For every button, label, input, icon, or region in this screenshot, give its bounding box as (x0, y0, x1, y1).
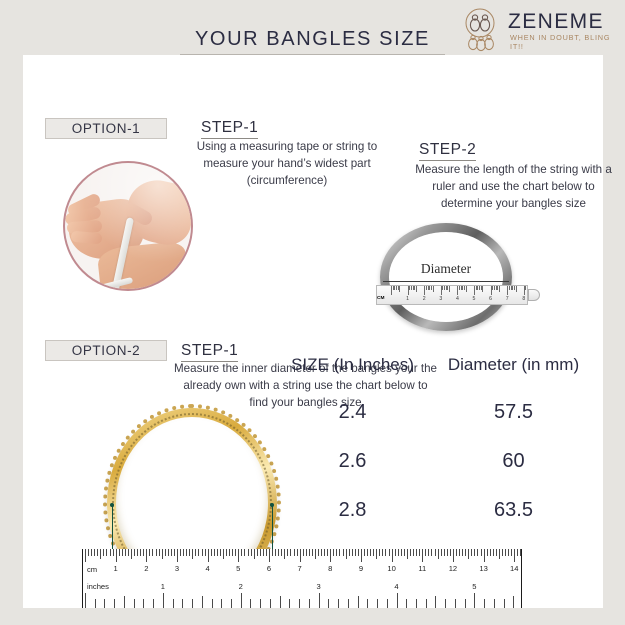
cell-size: 2.8 (272, 499, 433, 522)
ruler-inch-minor-tick (280, 596, 281, 608)
ruler-cm-tick (300, 549, 301, 562)
ruler-label: 3 (439, 296, 442, 302)
ruler-label: 6 (489, 296, 492, 302)
ruler-cm-minor-tick (217, 549, 218, 556)
ruler-cm-minor-tick (315, 549, 316, 559)
ruler-cm-minor-tick (490, 549, 491, 556)
ruler-cm-minor-tick (205, 549, 206, 556)
ruler-cm-tick (116, 549, 117, 562)
ruler-cm-label: 7 (298, 564, 302, 573)
ruler-cm-minor-tick (134, 549, 135, 556)
ruler-cm-minor-tick (94, 549, 95, 556)
ruler-cm-tick (238, 549, 239, 562)
ruler-inch-tick (319, 593, 320, 608)
content-panel: OPTION-1 STEP-1 Using a measuring tape o… (23, 55, 603, 608)
ruler-cm-tick (146, 549, 147, 562)
ruler-cm-minor-tick (174, 549, 175, 556)
ruler-cm-minor-tick (192, 549, 193, 559)
ruler-inch-minor-tick (95, 599, 96, 608)
ruler-inch-minor-tick (455, 599, 456, 608)
ruler-cm-minor-tick (346, 549, 347, 559)
ruler-cm-minor-tick (88, 549, 89, 556)
ruler-inch-minor-tick (299, 599, 300, 608)
ruler-cm-minor-tick (211, 549, 212, 556)
ruler-cm-minor-tick (493, 549, 494, 556)
ruler-inch-minor-tick (134, 599, 135, 608)
ruler-cm-minor-tick (499, 549, 500, 559)
ruler-cm-minor-tick (128, 549, 129, 556)
ruler-inch-minor-tick (143, 599, 144, 608)
ruler-cm-tick (422, 549, 423, 562)
brand-name: ZENEME (508, 10, 604, 34)
table-row: 2.6 60 (272, 450, 594, 473)
ruler-cm-minor-tick (349, 549, 350, 556)
ruler-cm-tick (484, 549, 485, 562)
option1-step2-heading: STEP-2 (419, 141, 476, 161)
ruler-cm-tick (208, 549, 209, 562)
ruler-cm-minor-tick (477, 549, 478, 556)
ruler-cm-minor-tick (462, 549, 463, 556)
option1-step1-heading: STEP-1 (201, 119, 258, 139)
ruler-cm-tick (392, 549, 393, 562)
ruler-label: 2 (423, 296, 426, 302)
ruler-inch-tick (85, 593, 86, 608)
ruler-cm-minor-tick (281, 549, 282, 556)
ruler-cm-minor-tick (214, 549, 215, 556)
ruler-cm-minor-tick (183, 549, 184, 556)
ruler-cm-tick (177, 549, 178, 562)
ruler-cm-tick (330, 549, 331, 562)
earrings-logo-icon (458, 6, 504, 52)
ruler-cm-minor-tick (162, 549, 163, 559)
ruler-cm-label: 6 (267, 564, 271, 573)
ruler-cm-minor-tick (254, 549, 255, 559)
diameter-ruler-icon: CM 12345678 (376, 285, 528, 305)
ruler-inch-minor-tick (406, 599, 407, 608)
table-row: 2.8 63.5 (272, 499, 594, 522)
ruler-inch-minor-tick (309, 599, 310, 608)
ruler-cm-minor-tick (364, 549, 365, 556)
ruler-cm-minor-tick (459, 549, 460, 556)
ruler-cm-label: 4 (206, 564, 210, 573)
size-chart: SIZE (In Inches) Diameter (in mm) 2.4 57… (272, 355, 594, 548)
ruler-inch-minor-tick (504, 599, 505, 608)
ruler-cm-minor-tick (97, 549, 98, 556)
ruler-cm-minor-tick (263, 549, 264, 556)
ruler-inch-minor-tick (328, 599, 329, 608)
ruler-cm-minor-tick (91, 549, 92, 556)
ruler-cm-minor-tick (425, 549, 426, 556)
cell-size: 2.6 (272, 450, 433, 473)
diameter-label: Diameter (380, 261, 512, 277)
ruler-inch-minor-tick (192, 599, 193, 608)
ruler-cm-minor-tick (251, 549, 252, 556)
ruler-cm-minor-tick (401, 549, 402, 556)
option-2-chip: OPTION-2 (45, 340, 167, 361)
ruler-cm-minor-tick (110, 549, 111, 556)
ruler-label: 1 (406, 296, 409, 302)
ruler-cm-minor-tick (389, 549, 390, 556)
ruler-cm-minor-tick (168, 549, 169, 556)
cell-diameter: 63.5 (433, 499, 594, 522)
ruler-cm-minor-tick (171, 549, 172, 556)
ruler-cm-minor-tick (471, 549, 472, 556)
ruler-cm-minor-tick (327, 549, 328, 556)
ruler-inch-minor-tick (124, 596, 125, 608)
ruler-cm-minor-tick (419, 549, 420, 556)
ruler-cm-label: 11 (418, 564, 426, 573)
ruler-cm-minor-tick (456, 549, 457, 556)
ruler-inch-tick (163, 593, 164, 608)
ruler-cm-minor-tick (404, 549, 405, 556)
ruler-cm-minor-tick (198, 549, 199, 556)
ruler-cm-minor-tick (318, 549, 319, 556)
ruler-cm-minor-tick (106, 549, 107, 556)
silver-bangle-inner-edge (389, 232, 503, 322)
ruler-cm-label: 14 (510, 564, 518, 573)
ruler-cm-minor-tick (373, 549, 374, 556)
ruler-cm-minor-tick (321, 549, 322, 556)
cell-size: 2.4 (272, 401, 433, 424)
ruler-cm-minor-tick (398, 549, 399, 556)
ruler-cm-minor-tick (140, 549, 141, 556)
ruler-tick (416, 286, 417, 292)
ruler-cm-minor-tick (474, 549, 475, 556)
ruler-cm-minor-tick (195, 549, 196, 556)
ruler-cm-minor-tick (159, 549, 160, 556)
ruler-cm-minor-tick (447, 549, 448, 556)
ruler-inch-minor-tick (250, 599, 251, 608)
ruler-cm-label: 10 (387, 564, 395, 573)
ruler-cm-minor-tick (100, 549, 101, 559)
ruler-cm-minor-tick (339, 549, 340, 556)
ruler-inch-tick (241, 593, 242, 608)
ruler-cm-minor-tick (152, 549, 153, 556)
ruler-cm-tick (269, 549, 270, 562)
ruler-cm-minor-tick (312, 549, 313, 556)
ruler-cm-minor-tick (165, 549, 166, 556)
ruler-inch-label: 3 (317, 582, 321, 591)
ruler-cm-minor-tick (352, 549, 353, 556)
ruler-cm-minor-tick (367, 549, 368, 556)
brand-tagline: WHEN IN DOUBT, BLING IT!! (510, 33, 618, 51)
ruler-cm-minor-tick (137, 549, 138, 556)
ruler-inch-minor-tick (367, 599, 368, 608)
ruler-cm-label: 12 (449, 564, 457, 573)
ruler-cm-minor-tick (379, 549, 380, 556)
ruler-inch-minor-tick (377, 599, 378, 608)
ruler-inch-minor-tick (202, 596, 203, 608)
ruler-label: 5 (473, 296, 476, 302)
photo-illustration (65, 163, 191, 289)
ruler-cm-label: 9 (359, 564, 363, 573)
ruler-inch-minor-tick (338, 599, 339, 608)
ruler-inch-minor-tick (426, 599, 427, 608)
ruler-label: 4 (456, 296, 459, 302)
ruler-cm-minor-tick (284, 549, 285, 559)
ruler-cm-minor-tick (511, 549, 512, 556)
ruler-cm-minor-tick (272, 549, 273, 556)
ruler-inch-label: 1 (161, 582, 165, 591)
ruler-cm-unit: cm (87, 565, 97, 574)
ruler-tick (482, 286, 483, 292)
ruler-inch-minor-tick (231, 599, 232, 608)
ruler-inch-minor-tick (173, 599, 174, 608)
page-title: YOUR BANGLES SIZE (180, 28, 445, 55)
ruler-cm-minor-tick (294, 549, 295, 556)
ruler-cm-minor-tick (149, 549, 150, 556)
table-row: 2.4 57.5 (272, 401, 594, 424)
ruler-inch-minor-tick (153, 599, 154, 608)
column-header-size: SIZE (In Inches) (272, 355, 433, 401)
ruler-tick (466, 286, 467, 292)
brand-logo: ZENEME WHEN IN DOUBT, BLING IT!! (458, 5, 618, 53)
ruler-inch-label: 5 (472, 582, 476, 591)
ruler-cm-minor-tick (520, 549, 521, 556)
ruler-cm-tick (514, 549, 515, 562)
ruler-cm-minor-tick (444, 549, 445, 556)
ruler-label: 7 (506, 296, 509, 302)
ruler-cm-minor-tick (385, 549, 386, 556)
ruler-cm-minor-tick (260, 549, 261, 556)
ruler-cm-minor-tick (382, 549, 383, 556)
ruler-cm-minor-tick (407, 549, 408, 559)
ruler-cm-minor-tick (143, 549, 144, 556)
ruler-inch-minor-tick (289, 599, 290, 608)
ruler-inch-tick (474, 593, 475, 608)
ruler-inch-label: 2 (239, 582, 243, 591)
ruler-cm-minor-tick (441, 549, 442, 556)
ruler-inch-minor-tick (260, 599, 261, 608)
bottom-ruler: cm inches 123456789101112131412345 (82, 549, 522, 608)
ruler-cm-label: 13 (479, 564, 487, 573)
ruler-inch-minor-tick (182, 599, 183, 608)
ruler-cm-minor-tick (223, 549, 224, 559)
ruler-inch-minor-tick (484, 599, 485, 608)
ruler-cm-minor-tick (465, 549, 466, 556)
ruler-inch-minor-tick (212, 599, 213, 608)
ruler-cm-label: 5 (236, 564, 240, 573)
ruler-cm-minor-tick (303, 549, 304, 556)
ruler-cm-minor-tick (410, 549, 411, 556)
photo-highlight (65, 163, 191, 289)
ruler-cm-minor-tick (333, 549, 334, 556)
ruler-cm-minor-tick (290, 549, 291, 556)
ruler-tick (433, 286, 434, 292)
ruler-cm-minor-tick (229, 549, 230, 556)
ruler-cm-minor-tick (306, 549, 307, 556)
ruler-inch-minor-tick (435, 596, 436, 608)
ruler-inch-tick (397, 593, 398, 608)
ruler-inch-minor-tick (494, 599, 495, 608)
ruler-inches-unit: inches (87, 582, 109, 591)
ruler-cm-minor-tick (122, 549, 123, 556)
ruler-cm-minor-tick (395, 549, 396, 556)
ruler-cm-tick (361, 549, 362, 562)
ruler-cm-minor-tick (232, 549, 233, 556)
diameter-line (383, 281, 509, 282)
ruler-cm-label: 2 (144, 564, 148, 573)
ruler-cm-minor-tick (468, 549, 469, 559)
ruler-cm-minor-tick (131, 549, 132, 559)
option1-step2-body: Measure the length of the string with a … (406, 161, 621, 212)
ruler-cm-minor-tick (125, 549, 126, 556)
cell-diameter: 57.5 (433, 401, 594, 424)
ruler-cm-minor-tick (358, 549, 359, 556)
ruler-inch-minor-tick (387, 599, 388, 608)
ruler-cm-minor-tick (297, 549, 298, 556)
option1-step1-body: Using a measuring tape or string to meas… (179, 138, 395, 189)
option-1-chip: OPTION-1 (45, 118, 167, 139)
ruler-end-cap (528, 289, 540, 301)
ruler-cm-minor-tick (278, 549, 279, 556)
ruler-cm-minor-tick (428, 549, 429, 556)
ruler-cm-minor-tick (235, 549, 236, 556)
size-chart-header-row: SIZE (In Inches) Diameter (in mm) (272, 355, 594, 401)
option2-step1-heading: STEP-1 (181, 342, 238, 362)
ruler-inch-minor-tick (270, 599, 271, 608)
ruler-cm-minor-tick (257, 549, 258, 556)
ruler-cm-minor-tick (248, 549, 249, 556)
ruler-inch-label: 4 (394, 582, 398, 591)
ruler-cm-minor-tick (324, 549, 325, 556)
ruler-inch-minor-tick (513, 596, 514, 608)
ruler-cm-minor-tick (355, 549, 356, 556)
ruler-cm-minor-tick (336, 549, 337, 556)
ruler-cm-minor-tick (435, 549, 436, 556)
ruler-cm-minor-tick (156, 549, 157, 556)
ruler-cm-minor-tick (309, 549, 310, 556)
ruler-inch-minor-tick (465, 599, 466, 608)
ruler-cm-minor-tick (481, 549, 482, 556)
ruler-cm-minor-tick (180, 549, 181, 556)
ruler-cm-minor-tick (370, 549, 371, 556)
ruler-cm-minor-tick (508, 549, 509, 556)
ruler-cm-minor-tick (431, 549, 432, 556)
ruler-minor-tick (525, 286, 526, 290)
ruler-cm-minor-tick (517, 549, 518, 556)
ruler-cm-minor-tick (113, 549, 114, 556)
bangle-size-guide-page: YOUR BANGLES SIZE ZENEME WHEN IN DOUBT, … (0, 0, 625, 625)
ruler-cm-minor-tick (266, 549, 267, 556)
ruler-cm-minor-tick (220, 549, 221, 556)
ruler-cm-minor-tick (103, 549, 104, 556)
ruler-inch-minor-tick (416, 599, 417, 608)
ruler-cm-minor-tick (487, 549, 488, 556)
ruler-tick (499, 286, 500, 292)
ruler-cm-minor-tick (376, 549, 377, 559)
ruler-tick (516, 286, 517, 292)
ruler-tick (399, 286, 400, 292)
ruler-cm-label: 1 (114, 564, 118, 573)
ruler-cm-minor-tick (505, 549, 506, 556)
ruler-inch-minor-tick (445, 599, 446, 608)
hand-measuring-with-string-photo (63, 161, 193, 291)
ruler-cm-minor-tick (186, 549, 187, 556)
ruler-cm-minor-tick (119, 549, 120, 556)
mini-ruler-unit: CM (377, 296, 384, 301)
ruler-cm-minor-tick (413, 549, 414, 556)
measure-point-left (110, 503, 114, 507)
cell-diameter: 60 (433, 450, 594, 473)
ruler-cm-tick (85, 549, 86, 562)
ruler-cm-minor-tick (202, 549, 203, 556)
silver-bangle-with-ruler-illustration: Diameter CM 12345678 (380, 223, 512, 331)
ruler-inch-minor-tick (104, 599, 105, 608)
ruler-cm-minor-tick (416, 549, 417, 556)
ruler-cm-label: 3 (175, 564, 179, 573)
column-header-diameter: Diameter (in mm) (433, 355, 594, 401)
ruler-cm-minor-tick (450, 549, 451, 556)
ruler-cm-minor-tick (287, 549, 288, 556)
ruler-cm-tick (453, 549, 454, 562)
ruler-inch-minor-tick (221, 599, 222, 608)
ruler-cm-minor-tick (502, 549, 503, 556)
ruler-inch-minor-tick (348, 599, 349, 608)
ruler-inch-minor-tick (358, 596, 359, 608)
ruler-cm-minor-tick (343, 549, 344, 556)
ruler-cm-minor-tick (275, 549, 276, 556)
ruler-inch-minor-tick (114, 599, 115, 608)
ruler-cm-minor-tick (244, 549, 245, 556)
ruler-tick (449, 286, 450, 292)
ruler-cm-label: 8 (328, 564, 332, 573)
ruler-label: 8 (522, 296, 525, 302)
ruler-cm-minor-tick (438, 549, 439, 559)
ruler-cm-minor-tick (241, 549, 242, 556)
ruler-cm-minor-tick (189, 549, 190, 556)
ruler-cm-minor-tick (226, 549, 227, 556)
ruler-cm-minor-tick (496, 549, 497, 556)
